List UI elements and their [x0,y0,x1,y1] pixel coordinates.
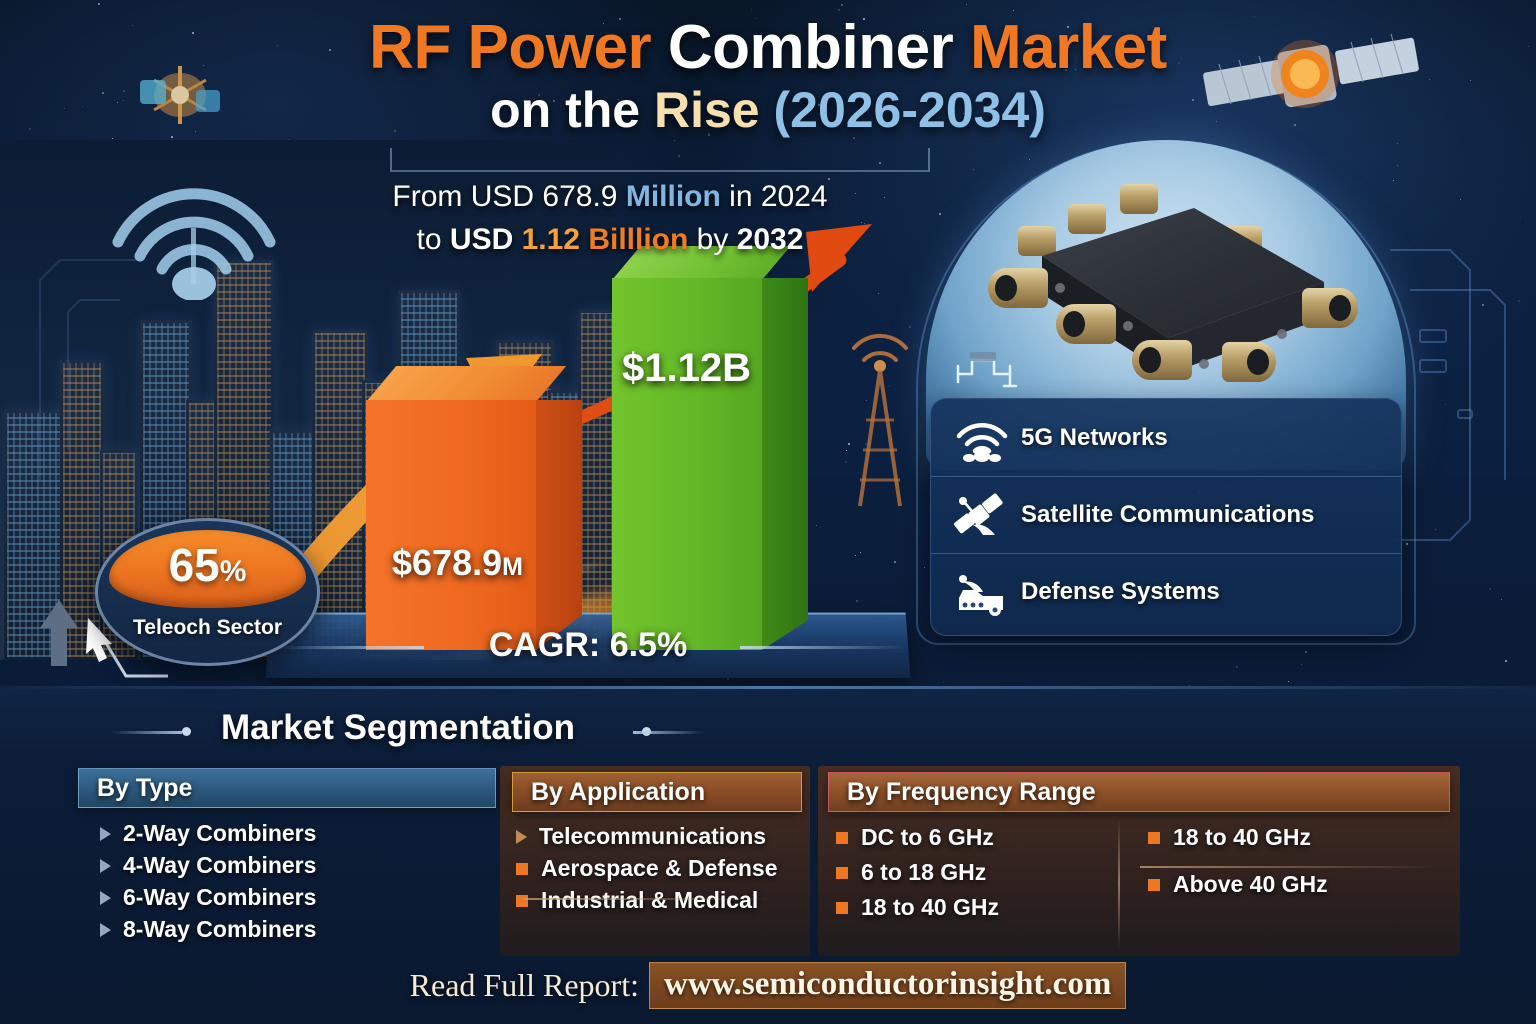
list-item-label: 18 to 40 GHz [861,896,999,919]
title-line-2: on the Rise (2026-2034) [0,81,1536,139]
list-item-label: DC to 6 GHz [861,826,994,849]
segmentation-heading-text: Market Segmentation [221,708,575,747]
triangle-bullet-icon [516,830,527,844]
applications-list: 5G Networks Satellite Communications [930,398,1402,636]
triangle-bullet-icon [100,891,111,905]
list-item-label: Telecommunications [539,825,766,848]
deco-line-right [633,731,703,734]
hud-decoration-left [20,250,160,510]
list-item[interactable]: 6 to 18 GHz [836,861,1128,884]
market-value-summary: From USD 678.9 Million in 2024 to USD 1.… [300,176,920,261]
section-top-edge [0,686,1536,689]
segment-header-text: By Application [531,778,705,807]
bar-2032 [612,278,762,650]
subtitle-part-years: (2026-2034) [773,82,1045,138]
title-underline-rule [390,148,930,172]
satellite-icon [953,491,1011,539]
value-line-to: to USD 1.12 Billlion by 2032 [300,219,920,262]
list-item[interactable]: 8-Way Combiners [100,918,496,941]
bar-2024 [366,400,536,650]
segment-items-by-type: 2-Way Combiners 4-Way Combiners 6-Way Co… [78,808,496,941]
application-item-defense[interactable]: Defense Systems [931,553,1401,630]
frequency-subcolumn-right: 18 to 40 GHz Above 40 GHz [1128,826,1428,928]
segment-items-by-frequency: DC to 6 GHz 6 to 18 GHz 18 to 40 GHz 18 … [828,812,1450,928]
list-item[interactable]: 18 to 40 GHz [836,896,1128,919]
military-vehicle-icon [953,568,1011,616]
segment-header-by-frequency: By Frequency Range [828,772,1450,812]
segment-items-by-application: Telecommunications Aerospace & Defense I… [512,812,802,912]
list-item-label: Industrial & Medical [541,889,758,912]
signal-waveform-icon [954,348,1024,394]
subtitle-part-rise: Rise [654,82,774,138]
badge-percent-sign: % [220,555,247,588]
segment-column-by-frequency: By Frequency Range DC to 6 GHz 6 to 18 G… [828,772,1450,928]
report-url-link[interactable]: www.semiconductorinsight.com [649,962,1126,1009]
list-item[interactable]: 6-Way Combiners [100,886,496,909]
triangle-bullet-icon [100,827,111,841]
by-word: by [688,223,736,256]
list-item-label: 18 to 40 GHz [1173,826,1311,849]
footer: Read Full Report:www.semiconductorinsigh… [0,962,1536,1009]
square-bullet-icon [836,902,848,914]
billion-word: Billlion [588,223,688,256]
title-part-rf-power: RF Power [369,13,668,82]
badge-value: 65 [169,539,220,591]
list-item-label: 2-Way Combiners [123,822,316,845]
page-title: RF Power Combiner Market on the Rise (20… [0,16,1536,139]
square-bullet-icon [516,863,528,875]
title-part-market: Market [970,13,1167,82]
list-item[interactable]: 4-Way Combiners [100,854,496,877]
list-item[interactable]: 18 to 40 GHz [1148,826,1428,849]
square-bullet-icon [516,895,528,907]
up-arrow-icon [38,598,80,668]
wifi-signal-icon [953,414,1011,462]
cagr-annotation: CAGR: 6.5% [268,626,908,665]
badge-caption: Teleoch Sector [95,616,320,640]
list-item-label: 6-Way Combiners [123,886,316,909]
list-item-label: 4-Way Combiners [123,854,316,877]
frequency-horizontal-divider [1140,866,1440,868]
from-text: From USD 678.9 [392,180,625,213]
list-item[interactable]: Telecommunications [516,825,802,848]
segment-header-by-application: By Application [512,772,802,812]
in-2024-text: in 2024 [721,180,828,213]
application-item-5g[interactable]: 5G Networks [931,399,1401,476]
square-bullet-icon [1148,832,1160,844]
title-part-combiner: Combiner [668,13,970,82]
list-item-label: 6 to 18 GHz [861,861,986,884]
bar-2032-label: $1.12B [622,346,751,391]
segment-header-text: By Type [97,774,192,803]
list-item[interactable]: Aerospace & Defense [516,857,802,880]
application-label: Satellite Communications [1021,501,1314,529]
to-word: to [417,223,450,256]
value-112: 1.12 [522,223,589,256]
telecom-share-badge: 65% Teleoch Sector [95,518,320,666]
bar-2024-value: $678.9 [392,542,502,583]
product-panel: 5G Networks Satellite Communications [916,140,1416,645]
segment-column-by-type: By Type 2-Way Combiners 4-Way Combiners … [78,768,496,950]
frequency-vertical-divider [1118,818,1120,948]
bar-2024-label: $678.9M [392,542,523,584]
application-label: 5G Networks [1021,424,1168,452]
triangle-bullet-icon [100,923,111,937]
cagr-text: CAGR: 6.5% [489,626,687,664]
title-line-1: RF Power Combiner Market [0,16,1536,79]
list-item-label: Aerospace & Defense [541,857,778,880]
subtitle-part-on-the: on the [490,82,654,138]
list-item-label: Above 40 GHz [1173,873,1328,896]
application-label: Defense Systems [1021,578,1220,606]
value-line-from: From USD 678.9 Million in 2024 [300,176,920,219]
segment-header-by-type: By Type [78,768,496,808]
list-item[interactable]: DC to 6 GHz [836,826,1128,849]
footer-label: Read Full Report: [410,967,639,1003]
triangle-bullet-icon [100,859,111,873]
square-bullet-icon [836,867,848,879]
segment-header-text: By Frequency Range [847,778,1096,807]
year-2032: 2032 [737,223,804,256]
list-item[interactable]: Above 40 GHz [1148,873,1428,896]
segmentation-heading: Market Segmentation [0,708,1536,748]
infographic-canvas: RF Power Combiner Market on the Rise (20… [0,0,1536,1024]
million-word: Million [626,180,721,213]
list-item[interactable]: 2-Way Combiners [100,822,496,845]
application-item-satellite[interactable]: Satellite Communications [931,476,1401,553]
badge-percent: 65% [95,538,320,592]
list-item-label: 8-Way Combiners [123,918,316,941]
bar-chart: $678.9M $1.12B [300,250,920,670]
bar-2024-unit: M [502,553,523,581]
rf-power-combiner-device-image [972,178,1362,428]
segment-divider-application [524,898,770,900]
frequency-subcolumn-left: DC to 6 GHz 6 to 18 GHz 18 to 40 GHz [828,826,1128,928]
square-bullet-icon [836,832,848,844]
square-bullet-icon [1148,879,1160,891]
list-item[interactable]: Industrial & Medical [516,889,802,912]
usd-word: USD [450,223,522,256]
